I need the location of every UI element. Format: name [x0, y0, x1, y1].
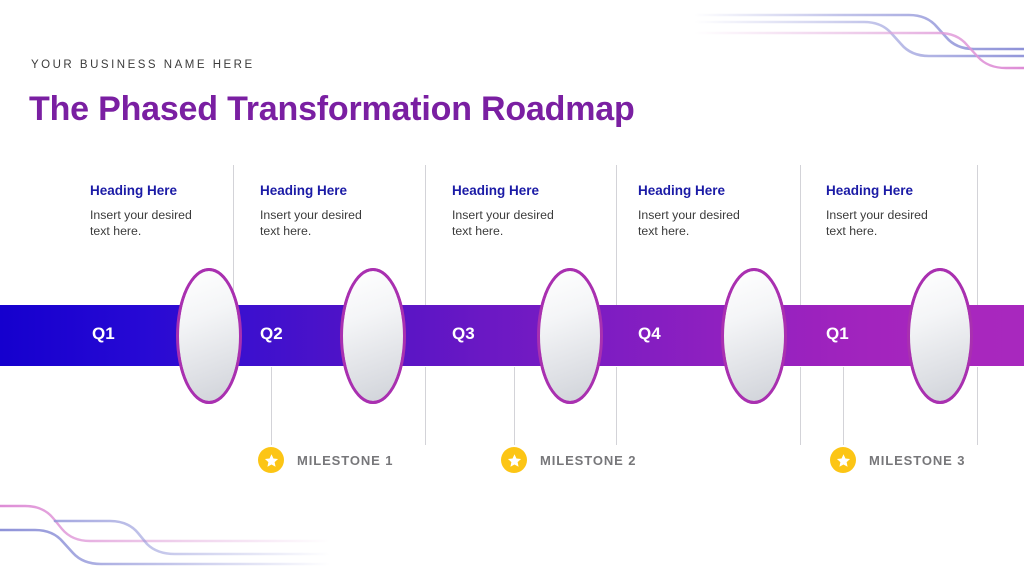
phase-heading: Heading Here	[90, 183, 240, 198]
star-icon	[830, 447, 856, 473]
phase-heading: Heading Here	[260, 183, 410, 198]
column-divider	[977, 165, 978, 305]
business-name-eyebrow: YOUR BUSINESS NAME HERE	[31, 59, 255, 71]
phase-column-4: Heading Here Insert your desired text he…	[638, 183, 788, 240]
column-divider	[616, 165, 617, 305]
phase-body: Insert your desired text here.	[90, 207, 200, 240]
phase-column-3: Heading Here Insert your desired text he…	[452, 183, 602, 240]
ellipse-edge-overlay-1	[176, 268, 242, 404]
phase-heading: Heading Here	[638, 183, 788, 198]
ellipse-edge-overlay-2	[340, 268, 406, 404]
phase-body: Insert your desired text here.	[826, 207, 936, 240]
milestone-label: MILESTONE 2	[540, 453, 636, 468]
timeline-label-2: Q2	[260, 324, 283, 344]
column-divider-low	[977, 367, 978, 445]
slide-canvas: YOUR BUSINESS NAME HERE The Phased Trans…	[0, 0, 1024, 576]
column-divider-low	[425, 367, 426, 445]
decorative-lines-bottom-left	[0, 486, 330, 576]
star-icon	[258, 447, 284, 473]
ellipse-edge-overlay-3	[537, 268, 603, 404]
milestone-connector-1	[271, 367, 272, 445]
milestone-label: MILESTONE 1	[297, 453, 393, 468]
ellipse-edge-overlay-4	[721, 268, 787, 404]
milestone-connector-2	[514, 367, 515, 445]
milestone-2[interactable]: MILESTONE 2	[501, 447, 636, 473]
page-title: The Phased Transformation Roadmap	[29, 90, 635, 129]
decorative-lines-top-right	[694, 0, 1024, 95]
timeline-label-3: Q3	[452, 324, 475, 344]
phase-body: Insert your desired text here.	[260, 207, 370, 240]
column-divider-low	[616, 367, 617, 445]
phase-heading: Heading Here	[452, 183, 602, 198]
column-divider	[425, 165, 426, 305]
phase-body: Insert your desired text here.	[452, 207, 562, 240]
milestone-1[interactable]: MILESTONE 1	[258, 447, 393, 473]
column-divider	[800, 165, 801, 305]
milestone-connector-3	[843, 367, 844, 445]
phase-column-5: Heading Here Insert your desired text he…	[826, 183, 976, 240]
phase-column-1: Heading Here Insert your desired text he…	[90, 183, 240, 240]
phase-heading: Heading Here	[826, 183, 976, 198]
timeline-label-4: Q4	[638, 324, 661, 344]
column-divider-low	[800, 367, 801, 445]
timeline-bar	[0, 305, 1024, 366]
milestone-label: MILESTONE 3	[869, 453, 965, 468]
phase-body: Insert your desired text here.	[638, 207, 748, 240]
timeline-label-5: Q1	[826, 324, 849, 344]
timeline-label-1: Q1	[92, 324, 115, 344]
phase-column-2: Heading Here Insert your desired text he…	[260, 183, 410, 240]
star-icon	[501, 447, 527, 473]
ellipse-edge-overlay-5	[907, 268, 973, 404]
milestone-3[interactable]: MILESTONE 3	[830, 447, 965, 473]
